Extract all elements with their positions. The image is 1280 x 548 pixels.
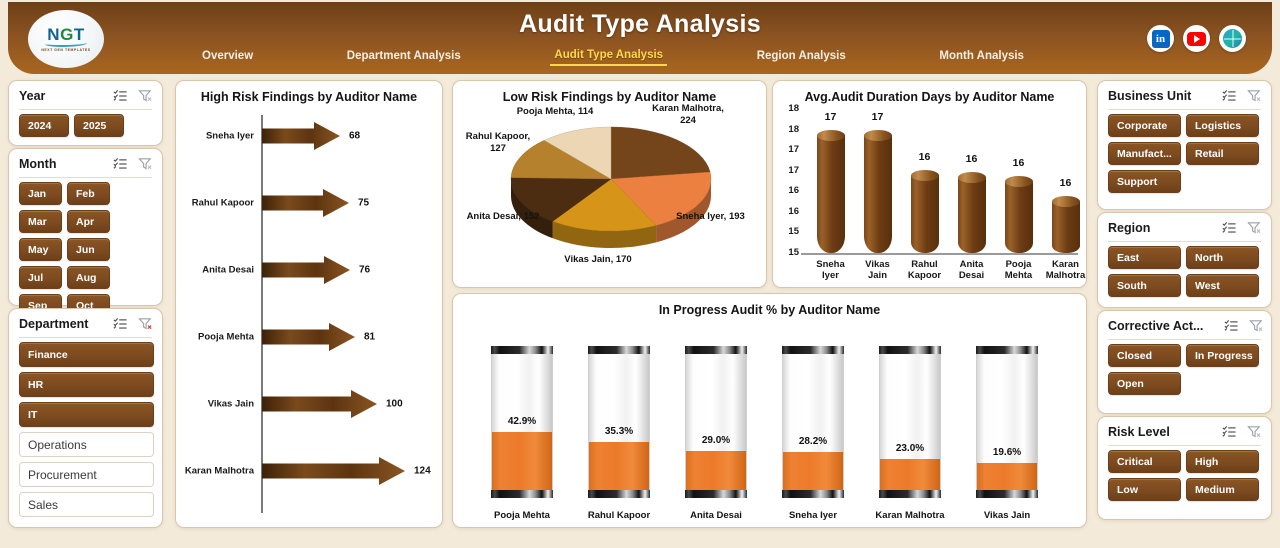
globe-icon: [1223, 29, 1242, 48]
cylinder-body: [958, 177, 986, 253]
arrow-shape[interactable]: [262, 457, 405, 485]
gauge-category-label: Anita Desai: [669, 510, 763, 521]
slicer-region-title: Region: [1108, 221, 1150, 235]
tube-cap-bottom: [976, 490, 1038, 498]
bar-value-label: 17: [854, 111, 901, 123]
slicer-month[interactable]: Month JanFebMarAprMayJunJulAugSepOctNovD…: [8, 148, 163, 306]
y-axis-tick-label: 15: [779, 247, 799, 258]
slicer-option-aug[interactable]: Aug: [67, 266, 110, 289]
slicer-option-operations[interactable]: Operations: [19, 432, 154, 457]
tube-fill: [589, 442, 649, 490]
arrow-shape[interactable]: [262, 189, 349, 217]
cylinder-bar[interactable]: 16KaranMalhotra: [1042, 109, 1089, 253]
nav-item-region-analysis[interactable]: Region Analysis: [753, 49, 850, 65]
slicer-year[interactable]: Year 20242025: [8, 80, 163, 146]
pie-slice: [611, 127, 710, 179]
tube-cap-bottom: [782, 490, 844, 498]
pie-slice-label: Karan Malhotra, 224: [643, 103, 733, 127]
pie-slice-label: Pooja Mehta, 114: [515, 106, 595, 118]
category-axis: [801, 253, 1078, 255]
slicer-divider: [1108, 339, 1261, 340]
slicer-region-options: EastNorthSouthWest: [1108, 246, 1263, 297]
bar-value-label: 75: [358, 198, 369, 209]
slicer-option-retail[interactable]: Retail: [1186, 142, 1259, 165]
pie-slice-label: Rahul Kapoor, 127: [458, 131, 538, 155]
bar-category-label: Karan Malhotra: [176, 466, 254, 477]
tube-gauge[interactable]: 19.6%Vikas Jain: [976, 346, 1038, 498]
multi-select-icon[interactable]: [1222, 425, 1237, 439]
gauge-category-label: Vikas Jain: [960, 510, 1054, 521]
gauge-category-label: Karan Malhotra: [863, 510, 957, 521]
logo-swoosh-icon: [45, 40, 87, 47]
tube-fill: [880, 459, 940, 490]
main-navigation: OverviewDepartment AnalysisAudit Type An…: [198, 48, 1028, 66]
cylinder-bar[interactable]: 17VikasJain: [854, 109, 901, 253]
cylinder-body: [817, 135, 845, 253]
arrow-bar-row[interactable]: Pooja Mehta81: [176, 322, 442, 352]
chart-avg-audit-duration: Avg.Audit Duration Days by Auditor Name …: [772, 80, 1087, 288]
tube-gauge[interactable]: 23.0%Karan Malhotra: [879, 346, 941, 498]
chart-title: Low Risk Findings by Auditor Name: [453, 90, 766, 104]
nav-item-audit-type-analysis[interactable]: Audit Type Analysis: [550, 48, 667, 66]
tube-gauge[interactable]: 35.3%Rahul Kapoor: [588, 346, 650, 498]
clear-filter-icon[interactable]: [138, 317, 153, 331]
pie-slice-label: Vikas Jain, 170: [553, 254, 643, 266]
slicer-option-critical[interactable]: Critical: [1108, 450, 1181, 473]
tube-body: [976, 354, 1038, 490]
clear-filter-icon[interactable]: [138, 89, 153, 103]
y-axis-tick-label: 18: [779, 124, 799, 135]
nav-item-month-analysis[interactable]: Month Analysis: [935, 49, 1028, 65]
bar-category-label: Vikas Jain: [176, 399, 254, 410]
slicer-department-options: FinanceHRITOperationsProcurementSales: [19, 342, 154, 517]
gauge-category-label: Pooja Mehta: [475, 510, 569, 521]
slicer-option-corporate[interactable]: Corporate: [1108, 114, 1181, 137]
gauge-value-label: 23.0%: [879, 443, 941, 454]
dashboard-page: NGT NEXT GEN TEMPLATES Audit Type Analys…: [0, 0, 1280, 548]
arrow-shape[interactable]: [262, 323, 355, 351]
slicer-option-jan[interactable]: Jan: [19, 182, 62, 205]
slicer-option-2025[interactable]: 2025: [74, 114, 124, 137]
bar-category-label: KaranMalhotra: [1042, 259, 1089, 282]
bar-value-label: 16: [901, 151, 948, 163]
tube-cap-bottom: [685, 490, 747, 498]
y-axis-tick-label: 17: [779, 144, 799, 155]
multi-select-icon[interactable]: [113, 157, 128, 171]
pie-slice-label: Sneha Iyer, 193: [668, 211, 753, 223]
pie-slice-label: Anita Desai, 152: [463, 211, 543, 223]
arrow-bar-row[interactable]: Rahul Kapoor75: [176, 188, 442, 218]
tube-cap-top: [879, 346, 941, 354]
clear-filter-icon[interactable]: [1247, 89, 1262, 103]
linkedin-button[interactable]: in: [1147, 25, 1174, 52]
chart-high-risk-findings: High Risk Findings by Auditor Name Sneha…: [175, 80, 443, 528]
bar-value-label: 68: [349, 131, 360, 142]
youtube-button[interactable]: [1183, 25, 1210, 52]
slicer-option-medium[interactable]: Medium: [1186, 478, 1259, 501]
slicer-corrective-action-options: ClosedIn ProgressOpen: [1108, 344, 1263, 395]
slicer-option-closed[interactable]: Closed: [1108, 344, 1181, 367]
bar-category-label: Anita Desai: [176, 265, 254, 276]
cylinder-body: [1052, 201, 1080, 253]
tube-fill: [492, 432, 552, 490]
slicer-divider: [19, 337, 152, 338]
slicer-corrective-action-title: Corrective Act...: [1108, 319, 1203, 333]
clear-filter-icon[interactable]: [1247, 425, 1262, 439]
nav-item-department-analysis[interactable]: Department Analysis: [343, 49, 465, 65]
chart-title: In Progress Audit % by Auditor Name: [453, 303, 1086, 317]
y-axis-tick-label: 16: [779, 206, 799, 217]
bar-category-label: AnitaDesai: [948, 259, 995, 282]
slicer-department[interactable]: Department FinanceHRITOperationsProcurem…: [8, 308, 163, 528]
arrow-shape[interactable]: [262, 122, 340, 150]
slicer-option-may[interactable]: May: [19, 238, 62, 261]
cylinder-body: [911, 175, 939, 253]
tube-gauge[interactable]: 29.0%Anita Desai: [685, 346, 747, 498]
tube-cap-top: [976, 346, 1038, 354]
bar-value-label: 16: [948, 153, 995, 165]
tube-cap-bottom: [588, 490, 650, 498]
bar-value-label: 16: [1042, 177, 1089, 189]
tube-cap-bottom: [879, 490, 941, 498]
slicer-option-in-progress[interactable]: In Progress: [1186, 344, 1259, 367]
multi-select-icon[interactable]: [1222, 221, 1237, 235]
tube-fill: [783, 452, 843, 490]
slicer-region[interactable]: Region EastNorthSouthWest: [1097, 212, 1272, 308]
tube-gauge[interactable]: 28.2%Sneha Iyer: [782, 346, 844, 498]
cylinder-bar[interactable]: 16RahulKapoor: [901, 109, 948, 253]
slicer-option-north[interactable]: North: [1186, 246, 1259, 269]
slicer-option-sales[interactable]: Sales: [19, 492, 154, 517]
gauge-value-label: 29.0%: [685, 435, 747, 446]
clear-filter-icon[interactable]: [1247, 221, 1262, 235]
slicer-department-title: Department: [19, 317, 88, 331]
y-axis-tick-label: 18: [779, 103, 799, 114]
bar-category-label: SnehaIyer: [807, 259, 854, 282]
slicer-month-title: Month: [19, 157, 56, 171]
bar-value-label: 81: [364, 332, 375, 343]
multi-select-icon[interactable]: [113, 89, 128, 103]
cylinder-top-ellipse: [864, 130, 892, 141]
page-title: Audit Type Analysis: [8, 10, 1272, 39]
cylinder-top-ellipse: [817, 130, 845, 141]
chart-low-risk-findings: Low Risk Findings by Auditor Name Karan …: [452, 80, 767, 288]
slicer-option-west[interactable]: West: [1186, 274, 1259, 297]
slicer-risk-level-options: CriticalHighLowMedium: [1108, 450, 1263, 501]
cylinder-bar[interactable]: 16PoojaMehta: [995, 109, 1042, 253]
bar-value-label: 17: [807, 111, 854, 123]
slicer-option-2024[interactable]: 2024: [19, 114, 69, 137]
y-axis-tick-label: 16: [779, 185, 799, 196]
arrow-bar-row[interactable]: Vikas Jain100: [176, 389, 442, 419]
gauge-category-label: Rahul Kapoor: [572, 510, 666, 521]
gauge-value-label: 35.3%: [588, 426, 650, 437]
bar-value-label: 16: [995, 157, 1042, 169]
tube-cap-top: [685, 346, 747, 354]
bar-value-label: 124: [414, 466, 431, 477]
slicer-business-unit-options: CorporateLogisticsManufact...RetailSuppo…: [1108, 114, 1263, 193]
tube-gauge[interactable]: 42.9%Pooja Mehta: [491, 346, 553, 498]
slicer-risk-level-title: Risk Level: [1108, 425, 1170, 439]
slicer-option-jul[interactable]: Jul: [19, 266, 62, 289]
tube-cap-top: [491, 346, 553, 354]
tube-body: [782, 354, 844, 490]
slicer-option-manufact[interactable]: Manufact...: [1108, 142, 1181, 165]
chart-title: Avg.Audit Duration Days by Auditor Name: [773, 90, 1086, 104]
slicer-option-logistics[interactable]: Logistics: [1186, 114, 1259, 137]
bar-value-label: 76: [359, 265, 370, 276]
linkedin-icon: in: [1152, 30, 1170, 48]
tube-cap-bottom: [491, 490, 553, 498]
bar-category-label: Rahul Kapoor: [176, 198, 254, 209]
tube-cap-top: [782, 346, 844, 354]
slicer-divider: [19, 109, 152, 110]
arrow-shape[interactable]: [262, 256, 350, 284]
slicer-option-east[interactable]: East: [1108, 246, 1181, 269]
multi-select-icon[interactable]: [1224, 319, 1239, 333]
slicer-divider: [1108, 241, 1261, 242]
tube-fill: [977, 463, 1037, 490]
slicer-option-south[interactable]: South: [1108, 274, 1181, 297]
chart-title: High Risk Findings by Auditor Name: [176, 90, 442, 104]
tube-body: [588, 354, 650, 490]
multi-select-icon[interactable]: [1222, 89, 1237, 103]
clear-filter-icon[interactable]: [1249, 319, 1264, 333]
bar-category-label: PoojaMehta: [995, 259, 1042, 282]
gauge-value-label: 19.6%: [976, 447, 1038, 458]
slicer-year-options: 20242025: [19, 114, 154, 137]
slicer-option-finance[interactable]: Finance: [19, 342, 154, 367]
tube-body: [879, 354, 941, 490]
slicer-option-mar[interactable]: Mar: [19, 210, 62, 233]
arrow-bar-row[interactable]: Sneha Iyer68: [176, 121, 442, 151]
slicer-option-high[interactable]: High: [1186, 450, 1259, 473]
cylinder-top-ellipse: [911, 170, 939, 181]
cylinder-top-ellipse: [958, 172, 986, 183]
slicer-option-apr[interactable]: Apr: [67, 210, 110, 233]
bar-category-label: Sneha Iyer: [176, 131, 254, 142]
tube-body: [685, 354, 747, 490]
bar-value-label: 100: [386, 399, 403, 410]
multi-select-icon[interactable]: [113, 317, 128, 331]
slicer-divider: [19, 177, 152, 178]
arrow-shape[interactable]: [262, 390, 377, 418]
bar-category-label: RahulKapoor: [901, 259, 948, 282]
slicer-option-feb[interactable]: Feb: [67, 182, 110, 205]
tube-cap-top: [588, 346, 650, 354]
y-axis-tick-label: 17: [779, 165, 799, 176]
cylinder-body: [1005, 181, 1033, 253]
slicer-year-title: Year: [19, 89, 45, 103]
nav-item-overview[interactable]: Overview: [198, 49, 257, 65]
logo-subtitle: NEXT GEN TEMPLATES: [41, 48, 90, 52]
cylinder-bar[interactable]: 16AnitaDesai: [948, 109, 995, 253]
tube-fill: [686, 451, 746, 490]
arrow-bar-row[interactable]: Karan Malhotra124: [176, 456, 442, 486]
bar-category-label: VikasJain: [854, 259, 901, 282]
slicer-option-support[interactable]: Support: [1108, 170, 1181, 193]
cylinder-bar[interactable]: 17SnehaIyer: [807, 109, 854, 253]
clear-filter-icon[interactable]: [138, 157, 153, 171]
slicer-corrective-action[interactable]: Corrective Act... ClosedIn ProgressOpen: [1097, 310, 1272, 414]
gauge-category-label: Sneha Iyer: [766, 510, 860, 521]
y-axis-tick-label: 15: [779, 226, 799, 237]
bar-category-label: Pooja Mehta: [176, 332, 254, 343]
slicer-business-unit-title: Business Unit: [1108, 89, 1191, 103]
value-axis: [261, 115, 263, 513]
chart-in-progress-audit: In Progress Audit % by Auditor Name 42.9…: [452, 293, 1087, 528]
cylinder-body: [864, 135, 892, 253]
website-button[interactable]: [1219, 25, 1246, 52]
slicer-risk-level[interactable]: Risk Level CriticalHighLowMedium: [1097, 416, 1272, 520]
slicer-divider: [1108, 109, 1261, 110]
page-header: NGT NEXT GEN TEMPLATES Audit Type Analys…: [8, 2, 1272, 74]
slicer-option-low[interactable]: Low: [1108, 478, 1181, 501]
slicer-divider: [1108, 445, 1261, 446]
youtube-icon: [1187, 32, 1206, 46]
gauge-value-label: 42.9%: [491, 416, 553, 427]
slicer-option-jun[interactable]: Jun: [67, 238, 110, 261]
slicer-option-it[interactable]: IT: [19, 402, 154, 427]
gauge-value-label: 28.2%: [782, 436, 844, 447]
slicer-option-open[interactable]: Open: [1108, 372, 1181, 395]
slicer-business-unit[interactable]: Business Unit CorporateLogisticsManufact…: [1097, 80, 1272, 210]
cylinder-top-ellipse: [1005, 176, 1033, 187]
social-links: in: [1147, 25, 1246, 52]
cylinder-top-ellipse: [1052, 196, 1080, 207]
slicer-option-procurement[interactable]: Procurement: [19, 462, 154, 487]
arrow-bar-row[interactable]: Anita Desai76: [176, 255, 442, 285]
slicer-option-hr[interactable]: HR: [19, 372, 154, 397]
